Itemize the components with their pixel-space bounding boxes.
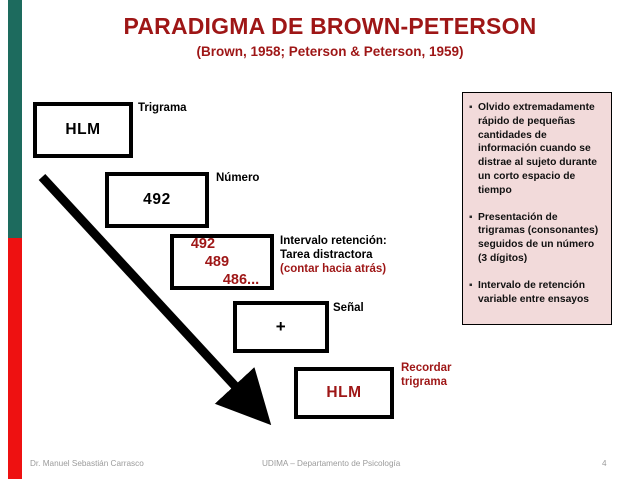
- list-item: ▪ Presentación de trigramas (consonantes…: [469, 211, 604, 266]
- caption-intervalo-line-3: (contar hacia atrás): [280, 262, 387, 276]
- list-item: ▪ Olvido extremadamente rápido de pequeñ…: [469, 101, 604, 198]
- caption-senal-line-1: Señal: [333, 301, 364, 315]
- caption-numero-line-1: Número: [216, 171, 259, 185]
- caption-recordar-line-1: Recordar: [401, 361, 452, 375]
- stimulus-box-distractor: 492 489 486...: [170, 234, 274, 290]
- stimulus-box-trigram: HLM: [33, 102, 133, 158]
- footer-department: UDIMA – Departamento de Psicología: [262, 459, 400, 468]
- caption-intervalo-line-1: Intervalo retención:: [280, 234, 387, 248]
- stimulus-box-number-text: 492: [143, 191, 171, 209]
- caption-trigrama-line-1: Trigrama: [138, 101, 187, 115]
- distractor-number-1: 492: [191, 235, 259, 253]
- square-bullet-icon: ▪: [469, 101, 478, 115]
- square-bullet-icon: ▪: [469, 279, 478, 293]
- title-block: PARADIGMA DE BROWN-PETERSON (Brown, 1958…: [60, 14, 600, 59]
- caption-recordar-trigrama: Recordar trigrama: [401, 361, 452, 389]
- stimulus-box-trigram-text: HLM: [65, 121, 100, 139]
- distractor-number-2: 489: [205, 253, 259, 271]
- stimulus-box-recall: HLM: [294, 367, 394, 419]
- note-text-1: Olvido extremadamente rápido de pequeñas…: [478, 101, 604, 198]
- list-item: ▪ Intervalo de retención variable entre …: [469, 279, 604, 307]
- left-accent-bar-teal: [8, 0, 22, 238]
- square-bullet-icon: ▪: [469, 211, 478, 225]
- left-accent-bar-red: [8, 238, 22, 479]
- stimulus-box-cue: +: [233, 301, 329, 353]
- footer: Dr. Manuel Sebastián Carrasco UDIMA – De…: [22, 456, 618, 474]
- notes-panel: ▪ Olvido extremadamente rápido de pequeñ…: [462, 92, 612, 325]
- caption-intervalo-retencion: Intervalo retención: Tarea distractora (…: [280, 234, 387, 276]
- footer-author: Dr. Manuel Sebastián Carrasco: [30, 459, 144, 468]
- note-text-2: Presentación de trigramas (consonantes) …: [478, 211, 604, 266]
- caption-recordar-line-2: trigrama: [401, 375, 452, 389]
- slide-canvas: PARADIGMA DE BROWN-PETERSON (Brown, 1958…: [0, 0, 638, 479]
- caption-senal: Señal: [333, 301, 364, 315]
- caption-intervalo-line-2: Tarea distractora: [280, 248, 387, 262]
- page-title: PARADIGMA DE BROWN-PETERSON: [60, 14, 600, 39]
- caption-numero: Número: [216, 171, 259, 185]
- caption-trigrama: Trigrama: [138, 101, 187, 115]
- note-text-3: Intervalo de retención variable entre en…: [478, 279, 604, 307]
- footer-page-number: 4: [602, 459, 607, 468]
- stimulus-box-cue-text: +: [276, 317, 287, 337]
- stimulus-box-recall-text: HLM: [326, 384, 361, 402]
- distractor-number-3: 486...: [223, 271, 259, 289]
- page-subtitle: (Brown, 1958; Peterson & Peterson, 1959): [60, 44, 600, 59]
- distractor-number-stack: 492 489 486...: [185, 235, 259, 289]
- stimulus-box-number: 492: [105, 172, 209, 228]
